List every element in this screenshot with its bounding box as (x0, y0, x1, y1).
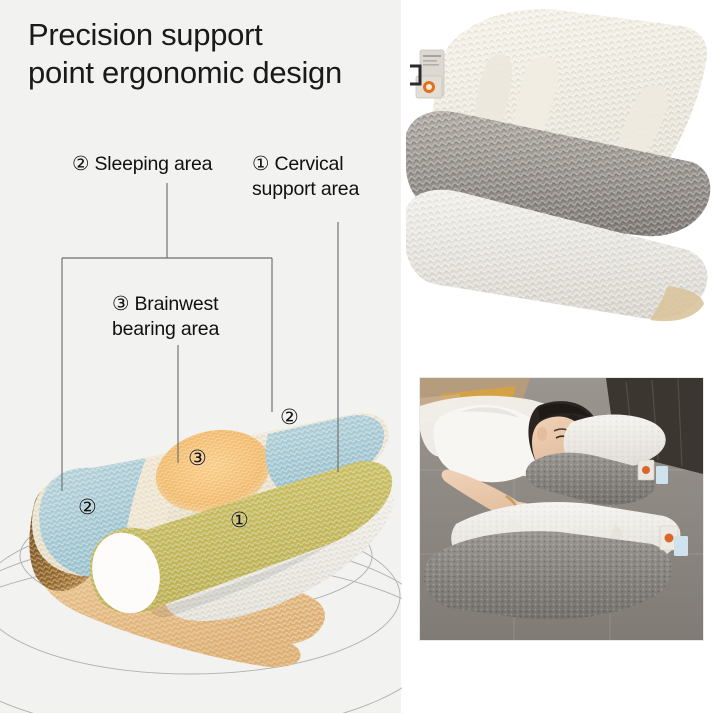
page-title: Precision support point ergonomic design (28, 16, 428, 92)
pillow-marker-brainwest: ③ (188, 446, 207, 471)
callout-connector-lines (0, 0, 402, 713)
lifestyle-photo-bottom (420, 378, 703, 640)
pillow-marker-sleeping-left: ② (78, 495, 97, 520)
pillow-marker-sleeping-right: ② (280, 405, 299, 430)
pillow-marker-cervical: ① (230, 508, 249, 533)
callout-label-brainwest-bearing-area: ③ Brainwest bearing area (112, 292, 292, 342)
callout-label-cervical-support-area: ① Cervical support area (252, 152, 382, 202)
product-photo-top (406, 0, 713, 360)
callout-label-sleeping-area: ② Sleeping area (72, 152, 212, 177)
infographic-canvas: Precision support point ergonomic design… (0, 0, 713, 713)
